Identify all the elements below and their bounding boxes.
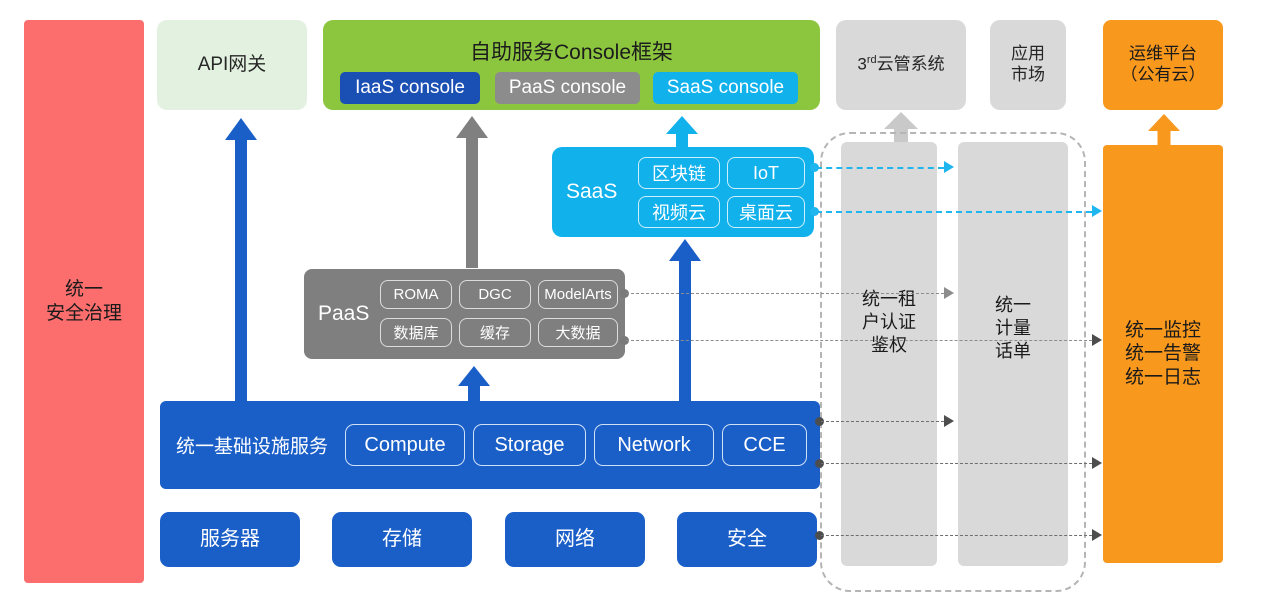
ops-platform-box: 运维平台 （公有云）: [1103, 20, 1223, 110]
iaas-console-label: IaaS console: [355, 77, 465, 99]
saas-item-label: 视频云: [652, 199, 706, 225]
api-gateway-box: API网关: [157, 20, 307, 110]
paas-label: PaaS: [318, 302, 369, 326]
ops-monitoring-column: 统一监控 统一告警 统一日志: [1103, 145, 1223, 563]
app-market-box: 应用 市场: [990, 20, 1066, 110]
paas-item-label: ROMA: [394, 286, 439, 303]
infra-item-label: CCE: [743, 434, 785, 457]
console-framework-title: 自助服务Console框架: [323, 36, 820, 66]
saas-item-label: 区块链: [652, 160, 706, 186]
resources-to-ops-line: [821, 535, 1092, 536]
paas-to-ops-line: [626, 340, 1092, 341]
console-framework: 自助服务Console框架 IaaS console PaaS console …: [323, 20, 820, 110]
resource-label: 网络: [555, 527, 595, 551]
resource-label: 服务器: [200, 527, 260, 551]
ops-monitoring-label: 统一监控 统一告警 统一日志: [1125, 319, 1201, 389]
arrow-head-icon: [1092, 457, 1102, 469]
infra-item-label: Compute: [364, 434, 445, 457]
iaas-console-chip[interactable]: IaaS console: [340, 72, 480, 104]
paas-console-label: PaaS console: [509, 77, 626, 99]
arrow-head-icon: [944, 287, 954, 299]
resource-box-network: 网络: [505, 512, 645, 567]
paas-console-chip[interactable]: PaaS console: [495, 72, 640, 104]
paas-item-roma[interactable]: ROMA: [380, 280, 452, 309]
arrow-head-icon: [1092, 205, 1102, 217]
paas-item-bigdata[interactable]: 大数据: [538, 318, 618, 347]
saas-label: SaaS: [566, 180, 617, 204]
saas-console-label: SaaS console: [667, 77, 784, 99]
paas-item-label: DGC: [478, 286, 511, 303]
arrow-head-icon: [944, 161, 954, 173]
saas-item-blockchain[interactable]: 区块链: [638, 157, 720, 189]
paas-item-label: 大数据: [555, 322, 600, 343]
paas-item-label: 数据库: [393, 322, 438, 343]
saas-to-ops-line: [816, 211, 1092, 213]
infra-item-network[interactable]: Network: [594, 424, 714, 466]
infra-item-compute[interactable]: Compute: [345, 424, 465, 466]
arrow-saas-to-console: [666, 116, 698, 150]
unified-infrastructure-bar: 统一基础设施服务 Compute Storage Network CCE: [160, 401, 820, 489]
resource-label: 安全: [727, 527, 767, 551]
arrow-infra-to-saas: [669, 239, 701, 409]
tenant-auth-column: 统一租 户认证 鉴权: [841, 142, 937, 566]
security-governance-column: 统一 安全治理: [24, 20, 144, 583]
metering-column: 统一 计量 话单: [958, 142, 1068, 566]
arrow-head-icon: [1092, 529, 1102, 541]
saas-console-chip[interactable]: SaaS console: [653, 72, 798, 104]
resource-box-server: 服务器: [160, 512, 300, 567]
metering-label: 统一 计量 话单: [958, 294, 1068, 363]
infra-to-tenant-auth-line: [821, 421, 944, 422]
app-market-label: 应用 市场: [1011, 44, 1045, 85]
arrow-infra-to-api-gateway: [225, 118, 257, 408]
paas-block: PaaS ROMA DGC ModelArts 数据库 缓存 大数据: [304, 269, 625, 359]
paas-item-label: ModelArts: [544, 286, 612, 303]
arrow-head-icon: [944, 415, 954, 427]
unified-infrastructure-label: 统一基础设施服务: [176, 432, 328, 459]
infra-item-storage[interactable]: Storage: [473, 424, 586, 466]
arrow-paas-to-console: [456, 116, 488, 268]
saas-item-video-cloud[interactable]: 视频云: [638, 196, 720, 228]
resource-box-storage: 存储: [332, 512, 472, 567]
paas-item-modelarts[interactable]: ModelArts: [538, 280, 618, 309]
saas-block: SaaS 区块链 IoT 视频云 桌面云: [552, 147, 814, 237]
tenant-auth-label: 统一租 户认证 鉴权: [841, 288, 937, 357]
ops-platform-label: 运维平台 （公有云）: [1121, 44, 1206, 85]
infra-item-label: Storage: [494, 434, 564, 457]
saas-to-tenant-auth-line: [816, 167, 944, 169]
infra-item-label: Network: [617, 434, 690, 457]
arrow-head-icon: [1092, 334, 1102, 346]
api-gateway-label: API网关: [198, 53, 267, 76]
saas-item-label: IoT: [753, 163, 779, 184]
third-party-cloud-label: 3rd云管系统: [857, 54, 944, 75]
paas-item-database[interactable]: 数据库: [380, 318, 452, 347]
infra-to-ops-line: [821, 463, 1092, 464]
paas-item-dgc[interactable]: DGC: [459, 280, 531, 309]
paas-item-cache[interactable]: 缓存: [459, 318, 531, 347]
paas-to-tenant-auth-line: [626, 293, 944, 294]
saas-item-iot[interactable]: IoT: [727, 157, 805, 189]
arrow-ops-column-to-ops-platform: [1148, 114, 1180, 146]
resource-label: 存储: [382, 527, 422, 551]
saas-item-label: 桌面云: [739, 199, 793, 225]
infra-item-cce[interactable]: CCE: [722, 424, 807, 466]
saas-item-desktop-cloud[interactable]: 桌面云: [727, 196, 805, 228]
third-party-cloud-box: 3rd云管系统: [836, 20, 966, 110]
paas-item-label: 缓存: [480, 322, 510, 343]
architecture-diagram: 统一 安全治理 API网关 自助服务Console框架 IaaS console…: [0, 0, 1265, 605]
resource-box-security: 安全: [677, 512, 817, 567]
security-governance-label: 统一 安全治理: [46, 278, 122, 324]
